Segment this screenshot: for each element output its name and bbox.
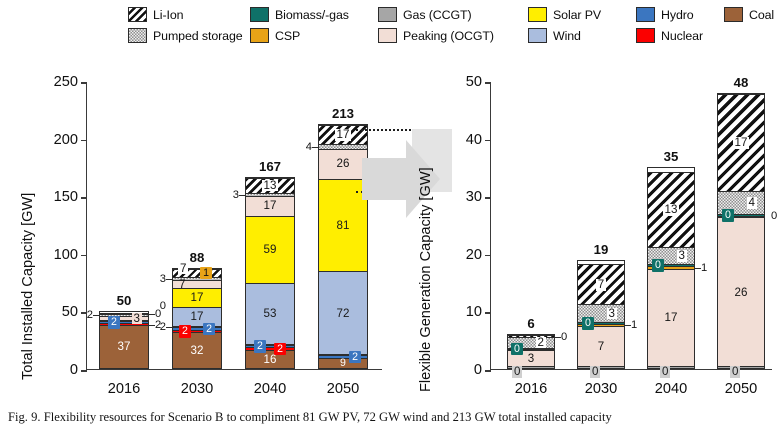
right-2040-seg-biomass[interactable]: 0 [648,264,694,266]
legend-label-ccgt: Gas (CCGT) [403,8,472,22]
left-2030-label-liion: 7 [178,263,188,275]
legend-label-liion: Li-Ion [153,8,183,22]
left-bar-2030-total: 88 [190,250,205,265]
left-2040-seg-pumped[interactable]: 3 [246,193,294,196]
right-2050-label-biomass: 0 [722,209,734,222]
right-2050-seg-liion[interactable]: 17 [718,94,764,192]
right-2016-seg-biomass[interactable]: 0 [508,348,554,350]
left-ytick-250: 250 [54,74,87,90]
nuclear-swatch [636,28,655,43]
right-2040-seg-ocgt[interactable]: 17 [648,269,694,367]
right-2050-label-ocgt: 26 [735,287,748,299]
left-2016-callout-pumped: 2 [87,309,93,321]
left-2050-seg-wind[interactable]: 72 [319,271,367,354]
left-xtick-2030: 2030 [181,381,213,397]
biomass-swatch [250,7,269,22]
left-2040-seg-ocgt[interactable]: 17 [246,196,294,216]
right-2040-label-biomass: 0 [652,259,664,272]
right-2030-label-ocgt: 7 [598,341,604,353]
left-2040-label-ocgt: 17 [264,200,277,212]
legend-item-coal: Coal [724,7,782,22]
hydro-swatch [636,7,655,22]
left-2040-label-nuclear: 2 [274,343,286,356]
right-2040-label-ocgt: 17 [665,312,678,324]
right-2030-label-liion: 7 [596,279,606,291]
left-2016-seg-coal[interactable]: 37 [100,325,148,368]
liion-swatch [128,7,147,22]
right-bar-2040-total: 35 [664,149,679,164]
left-xtick-2050: 2050 [327,381,359,397]
right-bar-2016[interactable]: 6 0 3 0 2 0 [507,334,555,369]
legend-item-solar: Solar PV [528,7,636,22]
legend-label-ocgt: Peaking (OCGT) [403,29,494,43]
left-2016-label-coal: 37 [118,341,131,353]
left-bar-2050-total: 213 [332,106,354,121]
right-2050-seg-ccgt[interactable]: 0 [718,366,764,368]
left-2050-label-hydro: 2 [349,351,361,364]
left-2050-label-liion: 17 [335,129,352,141]
left-2030-callout-zero: 0 [160,300,166,312]
right-2050-label-liion: 17 [733,137,750,149]
wind-swatch [528,28,547,43]
right-2040-label-ccgt: 0 [660,366,670,378]
right-2016-label-ccgt: 0 [512,366,522,378]
left-2030-label-nuclear: 2 [179,325,191,338]
legend-item-ocgt: Peaking (OCGT) [378,28,528,43]
left-ytick-0: 0 [70,362,87,378]
left-2040-seg-hydro[interactable]: 2 [246,345,294,347]
right-2030-seg-liion[interactable]: 7 [578,264,624,304]
left-2050-seg-pumped[interactable]: 4 [319,144,367,149]
right-2040-seg-liion[interactable]: 13 [648,172,694,247]
left-2016-label-hydro: 2 [108,316,120,329]
legend-label-solar: Solar PV [553,8,601,22]
right-2030-seg-ccgt[interactable]: 0 [578,366,624,368]
left-2040-label-liion: 13 [262,180,279,192]
legend-item-wind: Wind [528,28,636,43]
left-2050-label-ocgt: 26 [337,158,350,170]
legend-label-csp: CSP [275,29,300,43]
right-2016-label-biomass: 0 [511,343,523,356]
left-2050-label-wind: 72 [337,308,350,320]
right-bar-2050[interactable]: 48 0 26 0 0 4 17 [717,93,765,370]
left-ytick-100: 100 [54,247,87,263]
left-2030-seg-liion[interactable]: 7 1 [173,269,221,277]
legend-label-pumped: Pumped storage [153,29,243,43]
left-2050-callout-pumped: 4 [306,141,312,153]
right-2016-seg-ccgt[interactable]: 0 [508,366,554,368]
right-plot-area: 50 40 30 20 10 0 2016 2030 2040 2050 6 0… [490,82,772,370]
right-2030-seg-biomass[interactable]: 0 [578,322,624,324]
right-2030-label-biomass: 0 [582,317,594,330]
right-ytick-0: 0 [474,362,491,378]
right-2040-seg-ccgt[interactable]: 0 [648,366,694,368]
left-chart-panel: Total Installed Capacity [GW] 250 200 15… [0,60,400,400]
right-2016-callout-liion: 0 [561,331,567,343]
right-ytick-50: 50 [466,74,491,90]
right-ytick-30: 30 [466,189,491,205]
right-2040-label-liion: 13 [663,204,680,216]
csp-swatch [250,28,269,43]
left-ytick-200: 200 [54,132,87,148]
right-bar-2030-total: 19 [594,242,609,257]
right-ytick-10: 10 [466,304,491,320]
right-2016-label-pumped: 2 [536,337,546,349]
legend-label-wind: Wind [553,29,581,43]
peaking-ocgt-swatch [378,28,397,43]
right-2050-seg-ocgt[interactable]: 26 [718,217,764,366]
left-2030-seg-solar[interactable]: 17 [173,288,221,307]
left-bar-2040-total: 167 [259,159,281,174]
pumped-storage-swatch [128,28,147,43]
legend-item-pumped: Pumped storage [128,28,250,43]
left-2050-seg-liion[interactable]: 17 [319,125,367,145]
left-2040-label-coal: 16 [264,354,277,366]
right-xtick-2050: 2050 [725,381,757,397]
legend-label-coal: Coal [749,8,774,22]
left-y-axis-title: Total Installed Capacity [GW] [20,193,36,380]
left-2030-label-hydro: 2 [203,323,215,336]
left-bar-2050[interactable]: 213 9 2 72 81 26 4 [318,124,368,369]
left-2030-callout-pumped: 3 [160,273,166,285]
right-bar-2016-total: 6 [527,316,534,331]
left-2050-seg-ocgt[interactable]: 26 [319,149,367,179]
right-2050-callout-csp: 0 [771,210,777,222]
left-2030-label-ocgt: 7 [179,279,185,291]
left-2040-callout-pumped: 3 [233,189,239,201]
chart-legend: Li-Ion Biomass/-gas Gas (CCGT) Solar PV … [128,4,768,48]
right-bar-2030[interactable]: 19 0 7 1 0 3 7 [577,260,625,369]
left-xtick-2040: 2040 [254,381,286,397]
left-bar-2016[interactable]: 50 37 2 2 3 2 0 [99,311,149,369]
coal-swatch [724,7,743,22]
right-2050-label-ccgt: 0 [730,366,740,378]
left-2040-seg-liion[interactable]: 13 [246,178,294,193]
right-2040-callout-csp: 1 [701,262,707,274]
right-xtick-2030: 2030 [585,381,617,397]
gas-ccgt-swatch [378,7,397,22]
left-ytick-50: 50 [62,304,87,320]
right-y-axis-title: Flexible Generation Capacity [GW] [418,167,434,392]
left-xtick-2016: 2016 [108,381,140,397]
right-2050-seg-biomass[interactable]: 0 0 [718,214,764,216]
legend-item-biomass: Biomass/-gas [250,7,378,22]
right-xtick-2016: 2016 [515,381,547,397]
right-2040-label-pumped: 3 [677,250,687,262]
left-bar-2030[interactable]: 88 32 2 2 2 17 0 17 [172,268,222,369]
left-2030-callout-ccgt: 2 [160,321,166,333]
left-2040-seg-solar[interactable]: 59 [246,216,294,284]
right-ytick-40: 40 [466,132,491,148]
left-plot-area: 250 200 150 100 50 0 2016 2030 2040 2050… [86,82,382,370]
left-2040-label-solar: 59 [264,244,277,256]
left-2030-label-csp: 1 [200,267,212,280]
legend-item-csp: CSP [250,28,378,43]
right-2016-seg-liion[interactable]: 0 [508,335,554,336]
legend-item-hydro: Hydro [636,7,724,22]
legend-label-biomass: Biomass/-gas [275,8,349,22]
right-2030-callout-csp: 1 [631,319,637,331]
right-chart-panel: Flexible Generation Capacity [GW] 50 40 … [400,60,782,400]
legend-item-liion: Li-Ion [128,7,250,22]
left-2050-label-solar: 81 [337,220,350,232]
right-2030-seg-ocgt[interactable]: 7 [578,326,624,366]
left-2040-seg-wind[interactable]: 53 [246,283,294,344]
left-bar-2016-total: 50 [117,293,132,308]
right-xtick-2040: 2040 [655,381,687,397]
right-2030-label-pumped: 3 [607,308,617,320]
right-2030-label-ccgt: 0 [590,366,600,378]
left-2030-label-coal: 32 [191,345,204,357]
right-ytick-20: 20 [466,247,491,263]
right-2016-label-ocgt: 3 [528,353,534,365]
left-2040-label-wind: 53 [264,308,277,320]
right-bar-2050-total: 48 [734,75,749,90]
figure-root: Li-Ion Biomass/-gas Gas (CCGT) Solar PV … [0,0,782,436]
left-2030-label-wind: 17 [191,311,204,323]
left-2016-label-ocgt: 3 [132,313,142,325]
figure-caption: Fig. 9. Flexibility resources for Scenar… [8,410,612,425]
left-2040-label-hydro: 2 [254,340,266,353]
solar-pv-swatch [528,7,547,22]
right-2050-label-pumped: 4 [747,197,757,209]
legend-item-nuclear: Nuclear [636,28,724,43]
left-bar-2040[interactable]: 167 16 2 2 53 59 17 [245,177,295,369]
left-2030-label-solar: 17 [191,292,204,304]
left-2030-seg-ocgt[interactable]: 7 [173,280,221,288]
left-ytick-150: 150 [54,189,87,205]
legend-item-ccgt: Gas (CCGT) [378,7,528,22]
legend-label-hydro: Hydro [661,8,694,22]
legend-label-nuclear: Nuclear [661,29,703,43]
right-bar-2040[interactable]: 35 0 17 1 0 3 13 [647,167,695,369]
left-2050-label-coal: 9 [340,358,346,369]
